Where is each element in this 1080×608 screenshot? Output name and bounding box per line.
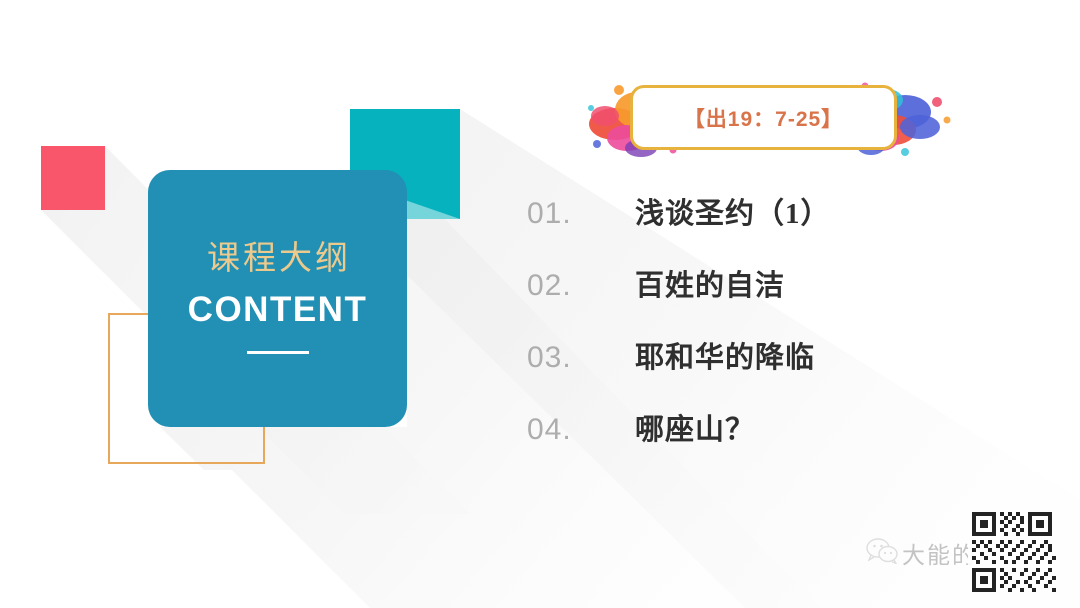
content-card: 课程大纲 CONTENT [148, 170, 407, 427]
outline-item[interactable]: 04. 哪座山？ [527, 406, 987, 478]
outline-item-label: 浅谈圣约（1） [635, 190, 831, 232]
outline-item-number: 03. [527, 341, 635, 375]
outline-item-number: 02. [527, 269, 635, 303]
outline-item[interactable]: 01. 浅谈圣约（1） [527, 190, 987, 262]
scripture-banner: 【出19：7-25】 [575, 72, 975, 164]
scripture-banner-box: 【出19：7-25】 [630, 85, 897, 150]
scripture-reference-text: 【出19：7-25】 [684, 103, 843, 133]
outline-item-label: 哪座山？ [635, 406, 755, 448]
qr-code-icon [968, 508, 1056, 596]
outline-item[interactable]: 03. 耶和华的降临 [527, 334, 987, 406]
wechat-icon [866, 538, 898, 564]
card-title-chinese: 课程大纲 [204, 243, 351, 276]
card-underline-rule [247, 351, 309, 354]
watermark: 大能的 [866, 505, 1072, 601]
outline-item-label: 耶和华的降临 [635, 334, 815, 376]
watermark-account-name: 大能的 [902, 536, 977, 570]
red-square-decoration [41, 146, 105, 210]
slide-canvas: 课程大纲 CONTENT [0, 0, 1080, 608]
outline-list: 01. 浅谈圣约（1） 02. 百姓的自洁 03. 耶和华的降临 04. 哪座山… [527, 190, 987, 478]
outline-item-number: 04. [527, 413, 635, 447]
outline-item-number: 01. [527, 197, 635, 231]
outline-item-label: 百姓的自洁 [635, 262, 785, 304]
card-title-english: CONTENT [188, 292, 368, 327]
outline-item[interactable]: 02. 百姓的自洁 [527, 262, 987, 334]
